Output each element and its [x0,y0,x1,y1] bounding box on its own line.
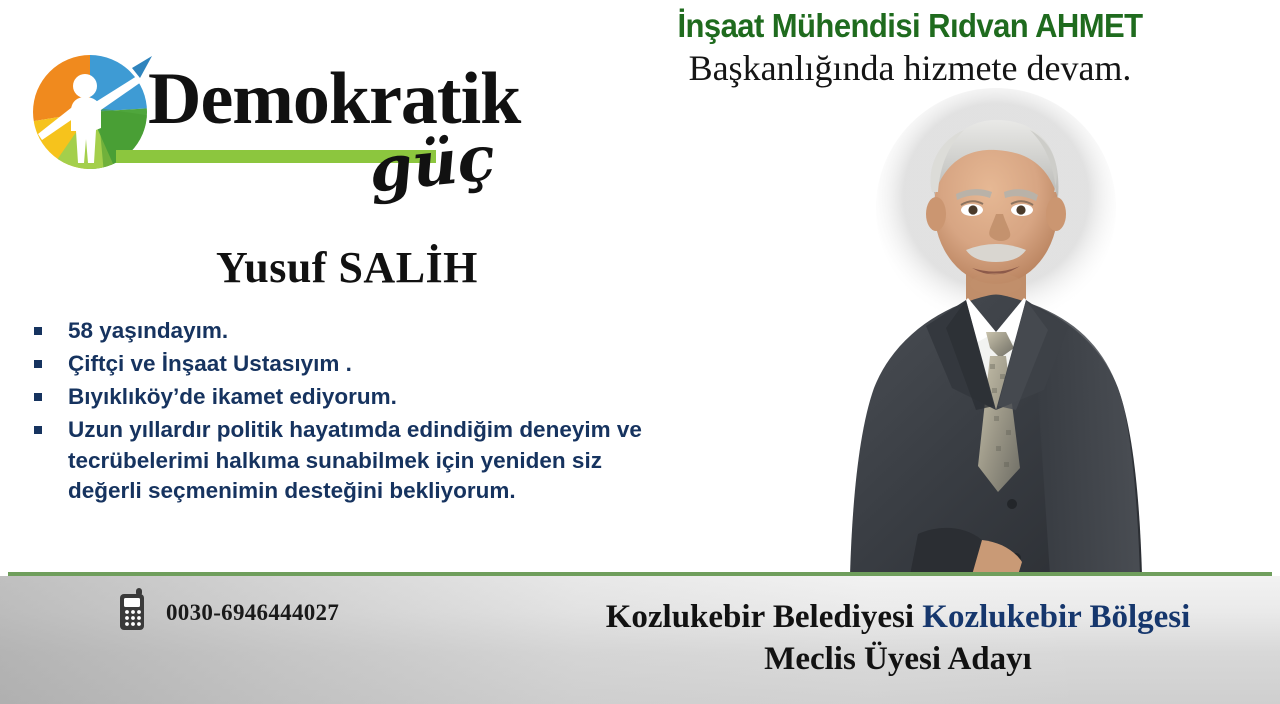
office-line-2: Meclis Üyesi Adayı [520,638,1276,680]
bio-item-text: Uzun yıllardır politik hayatımda edindiğ… [68,417,642,502]
bio-item: Çiftçi ve İnşaat Ustasıyım . [30,349,650,379]
logo-script-word: güç [366,127,498,202]
bio-item-text: 58 yaşındayım. [68,318,228,343]
contact-phone-number: 0030-6946444027 [166,600,339,626]
office-municipality: Kozlukebir Belediyesi [606,599,923,635]
header-slogan-line: Başkanlığında hizmete devam. [560,47,1260,90]
bullet-square-icon [34,426,42,434]
contact-phone-row: 0030-6946444027 [118,588,339,637]
bio-item-text: Bıyıklıköy’de ikamet ediyorum. [68,384,397,409]
candidate-name: Yusuf SALİH [216,246,478,290]
bio-item: 58 yaşındayım. [30,316,650,346]
bio-item: Bıyıklıköy’de ikamet ediyorum. [30,382,650,412]
bullet-square-icon [34,327,42,335]
office-region: Kozlukebir Bölgesi [922,599,1190,635]
footer-divider [8,572,1272,576]
header-mayor-line: İnşaat Mühendisi Rıdvan AHMET [581,8,1239,45]
candidate-bio-list: 58 yaşındayım. Çiftçi ve İnşaat Ustasıyı… [30,316,650,509]
bullet-square-icon [34,393,42,401]
header-block: İnşaat Mühendisi Rıdvan AHMET Başkanlığı… [560,8,1260,90]
candidate-portrait [800,88,1190,575]
office-block: Kozlukebir Belediyesi Kozlukebir Bölgesi… [520,596,1276,680]
bio-item: Uzun yıllardır politik hayatımda edindiğ… [30,415,650,505]
bio-item-text: Çiftçi ve İnşaat Ustasıyım . [68,351,352,376]
party-logo: Demokratik güç [28,44,538,214]
mobile-phone-icon [118,588,148,637]
campaign-poster: Demokratik güç İnşaat Mühendisi Rıdvan A… [0,0,1280,704]
office-line-1: Kozlukebir Belediyesi Kozlukebir Bölgesi [520,596,1276,638]
bullet-square-icon [34,360,42,368]
